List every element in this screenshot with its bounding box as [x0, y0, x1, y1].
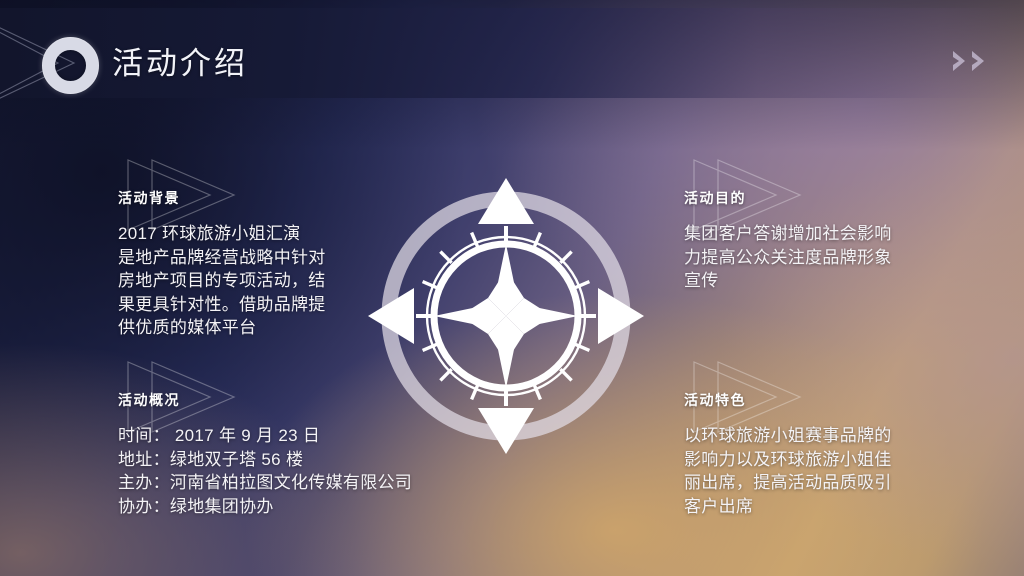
slide-header-bar: 活动介绍 [0, 8, 1024, 98]
body-line: 房地产项目的专项活动，结 [118, 269, 408, 293]
body-line: 力提高公众关注度品牌形象 [684, 246, 964, 270]
section-body: 2017 环球旅游小姐汇演 是地产品牌经营战略中针对 房地产项目的专项活动，结 … [118, 222, 408, 340]
ring-logo-icon [42, 37, 99, 94]
body-line: 主办：河南省柏拉图文化传媒有限公司 [118, 471, 458, 495]
body-line: 协办：绿地集团协办 [118, 495, 458, 519]
body-line: 果更具针对性。借助品牌提 [118, 293, 408, 317]
double-chevron-right-icon[interactable] [952, 50, 988, 72]
body-line: 是地产品牌经营战略中针对 [118, 246, 408, 270]
body-line: 以环球旅游小姐赛事品牌的 [684, 424, 964, 448]
body-line: 地址：绿地双子塔 56 楼 [118, 448, 458, 472]
section-title: 活动目的 [684, 188, 964, 208]
section-body: 以环球旅游小姐赛事品牌的 影响力以及环球旅游小姐佳 丽出席，提高活动品质吸引 客… [684, 424, 964, 518]
body-line: 影响力以及环球旅游小姐佳 [684, 448, 964, 472]
section-activity-feature: 活动特色 以环球旅游小姐赛事品牌的 影响力以及环球旅游小姐佳 丽出席，提高活动品… [684, 390, 964, 518]
body-line: 丽出席，提高活动品质吸引 [684, 471, 964, 495]
section-body: 时间： 2017 年 9 月 23 日 地址：绿地双子塔 56 楼 主办：河南省… [118, 424, 458, 518]
presentation-slide: 活动介绍 [0, 0, 1024, 576]
body-line: 集团客户答谢增加社会影响 [684, 222, 964, 246]
section-activity-background: 活动背景 2017 环球旅游小姐汇演 是地产品牌经营战略中针对 房地产项目的专项… [118, 188, 408, 340]
body-line: 2017 环球旅游小姐汇演 [118, 222, 408, 246]
body-line: 时间： 2017 年 9 月 23 日 [118, 424, 458, 448]
body-line: 客户出席 [684, 495, 964, 519]
page-title: 活动介绍 [112, 38, 248, 83]
section-activity-overview: 活动概况 时间： 2017 年 9 月 23 日 地址：绿地双子塔 56 楼 主… [118, 390, 458, 518]
section-activity-purpose: 活动目的 集团客户答谢增加社会影响 力提高公众关注度品牌形象 宣传 [684, 188, 964, 293]
section-title: 活动概况 [118, 390, 458, 410]
body-line: 供优质的媒体平台 [118, 316, 408, 340]
section-title: 活动特色 [684, 390, 964, 410]
section-body: 集团客户答谢增加社会影响 力提高公众关注度品牌形象 宣传 [684, 222, 964, 293]
body-line: 宣传 [684, 269, 964, 293]
section-title: 活动背景 [118, 188, 408, 208]
